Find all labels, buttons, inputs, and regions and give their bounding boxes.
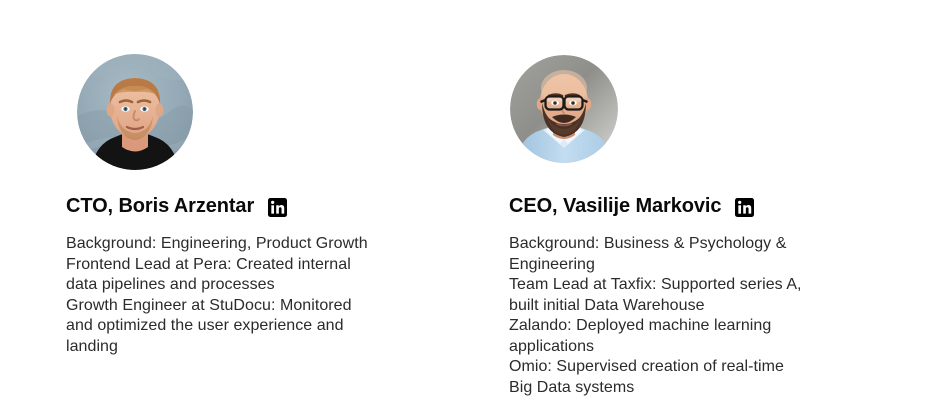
page-title: CEO, Vasilije Markovic [509, 196, 721, 216]
avatar-photo-boris-arzentar-icon [77, 54, 193, 170]
bio-line: Background: Engineering, Product Growth [66, 234, 416, 255]
bio-line: built initial Data Warehouse [509, 296, 859, 317]
bio-line: Zalando: Deployed machine learning [509, 316, 859, 337]
profile-card-vasilije-markovic: CEO, Vasilije Markovic Background: Busin… [509, 0, 929, 163]
page-title: CTO, Boris Arzentar [66, 196, 254, 216]
team-profiles-section: CTO, Boris Arzentar Background: Engineer… [0, 0, 948, 412]
profile-bio: Background: Engineering, Product Growth … [66, 234, 416, 357]
bio-line: and optimized the user experience and [66, 316, 416, 337]
bio-line: landing [66, 337, 416, 358]
bio-line: Big Data systems [509, 378, 859, 399]
avatar [77, 54, 193, 170]
bio-line: Team Lead at Taxfix: Supported series A, [509, 275, 859, 296]
bio-line: Omio: Supervised creation of real-time [509, 357, 859, 378]
avatar-photo-vasilije-markovic-icon [510, 55, 618, 163]
bio-line: Engineering [509, 255, 859, 276]
bio-line: Growth Engineer at StuDocu: Monitored [66, 296, 416, 317]
avatar [510, 55, 618, 163]
profile-name-row: CEO, Vasilije Markovic [509, 196, 754, 216]
profile-card-boris-arzentar: CTO, Boris Arzentar Background: Engineer… [66, 0, 466, 170]
profile-bio: Background: Business & Psychology & Engi… [509, 234, 859, 398]
bio-line: applications [509, 337, 859, 358]
bio-line: Frontend Lead at Pera: Created internal [66, 255, 416, 276]
bio-line: Background: Business & Psychology & [509, 234, 859, 255]
bio-line: data pipelines and processes [66, 275, 416, 296]
linkedin-icon[interactable] [268, 198, 287, 217]
linkedin-icon[interactable] [735, 198, 754, 217]
profile-name-row: CTO, Boris Arzentar [66, 196, 287, 216]
